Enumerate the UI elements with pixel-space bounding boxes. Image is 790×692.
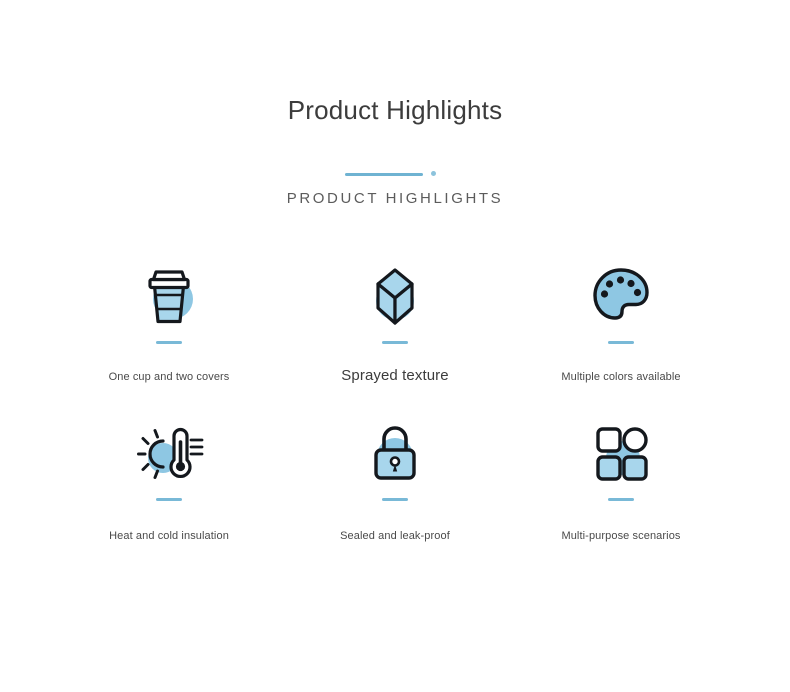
feature-item: Sprayed texture xyxy=(282,261,508,386)
feature-accent-bar xyxy=(156,341,182,344)
page-header: Product Highlights PRODUCT HIGHLIGHTS xyxy=(0,0,790,207)
divider-line-icon xyxy=(345,173,423,176)
padlock-icon xyxy=(359,418,431,490)
page-subtitle: PRODUCT HIGHLIGHTS xyxy=(0,190,790,207)
feature-caption: Sealed and leak-proof xyxy=(340,529,450,543)
feature-caption: Sprayed texture xyxy=(341,366,448,386)
feature-accent-bar xyxy=(608,498,634,501)
feature-grid: One cup and two covers Sprayed xyxy=(0,261,790,543)
thermometer-sun-icon xyxy=(133,418,205,490)
feature-accent-bar xyxy=(382,498,408,501)
feature-item: Sealed and leak-proof xyxy=(282,418,508,543)
feature-caption: Heat and cold insulation xyxy=(109,529,229,543)
feature-item: Heat and cold insulation xyxy=(56,418,282,543)
feature-item: Multiple colors available xyxy=(508,261,734,386)
feature-caption: Multiple colors available xyxy=(561,370,680,384)
coffee-cup-icon xyxy=(133,261,205,333)
page-title: Product Highlights xyxy=(0,95,790,126)
feature-row: One cup and two covers Sprayed xyxy=(0,261,790,386)
feature-accent-bar xyxy=(608,341,634,344)
feature-row: Heat and cold insulation xyxy=(0,418,790,543)
feature-item: Multi-purpose scenarios xyxy=(508,418,734,543)
feature-caption: Multi-purpose scenarios xyxy=(561,529,680,543)
feature-accent-bar xyxy=(382,341,408,344)
feature-caption: One cup and two covers xyxy=(109,370,230,384)
feature-item: One cup and two covers xyxy=(56,261,282,386)
grid-quadrant-icon xyxy=(585,418,657,490)
divider-dot-icon xyxy=(431,171,436,176)
title-divider xyxy=(345,170,445,178)
feature-accent-bar xyxy=(156,498,182,501)
box-cube-icon xyxy=(359,261,431,333)
paint-palette-icon xyxy=(585,261,657,333)
product-highlights-page: Product Highlights PRODUCT HIGHLIGHTS xyxy=(0,0,790,692)
